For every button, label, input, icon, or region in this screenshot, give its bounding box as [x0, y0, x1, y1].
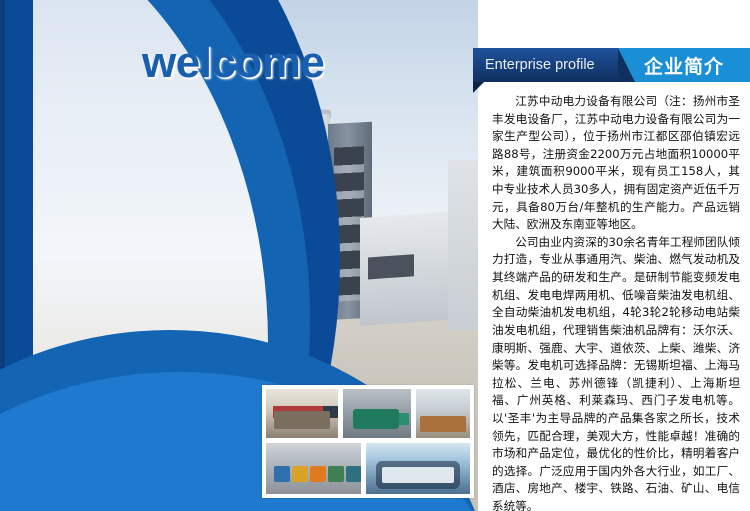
photo-warehouse-generators — [265, 442, 362, 495]
section-banner: Enterprise profile 企业简介 — [473, 48, 750, 82]
enterprise-profile-panel: Enterprise profile 企业简介 江苏中动电力设备有限公司（注：扬… — [478, 0, 750, 511]
photo-office-meeting — [265, 388, 339, 439]
hero-photo-area: 中动电力 江苏中动电力设备有限公司 Zhongdong Power Equipm… — [0, 0, 478, 511]
welcome-heading: welcome — [142, 38, 324, 88]
photo-green-generator-sets — [342, 388, 412, 439]
photo-reception-counter — [415, 388, 471, 439]
profile-paragraph-1: 江苏中动电力设备有限公司（注：扬州市圣丰发电设备厂，江苏中动电力设备有限公司为一… — [492, 93, 740, 234]
far-right-structure — [448, 160, 478, 330]
banner-chinese-label: 企业简介 — [618, 48, 750, 82]
photo-conference-room — [365, 442, 471, 495]
profile-paragraph-2: 公司由业内资深的30余名青年工程师团队倾力打造，专业从事通用汽、柴油、燃气发动机… — [492, 234, 740, 511]
banner-english-label: Enterprise profile — [473, 48, 618, 82]
photo-collage — [262, 385, 474, 498]
banner-corner-tail — [473, 82, 484, 93]
company-profile-banner: 中动电力 江苏中动电力设备有限公司 Zhongdong Power Equipm… — [0, 0, 750, 511]
collage-row-top — [265, 388, 471, 439]
collage-row-bottom — [265, 442, 471, 495]
profile-body-text: 江苏中动电力设备有限公司（注：扬州市圣丰发电设备厂，江苏中动电力设备有限公司为一… — [492, 93, 740, 511]
